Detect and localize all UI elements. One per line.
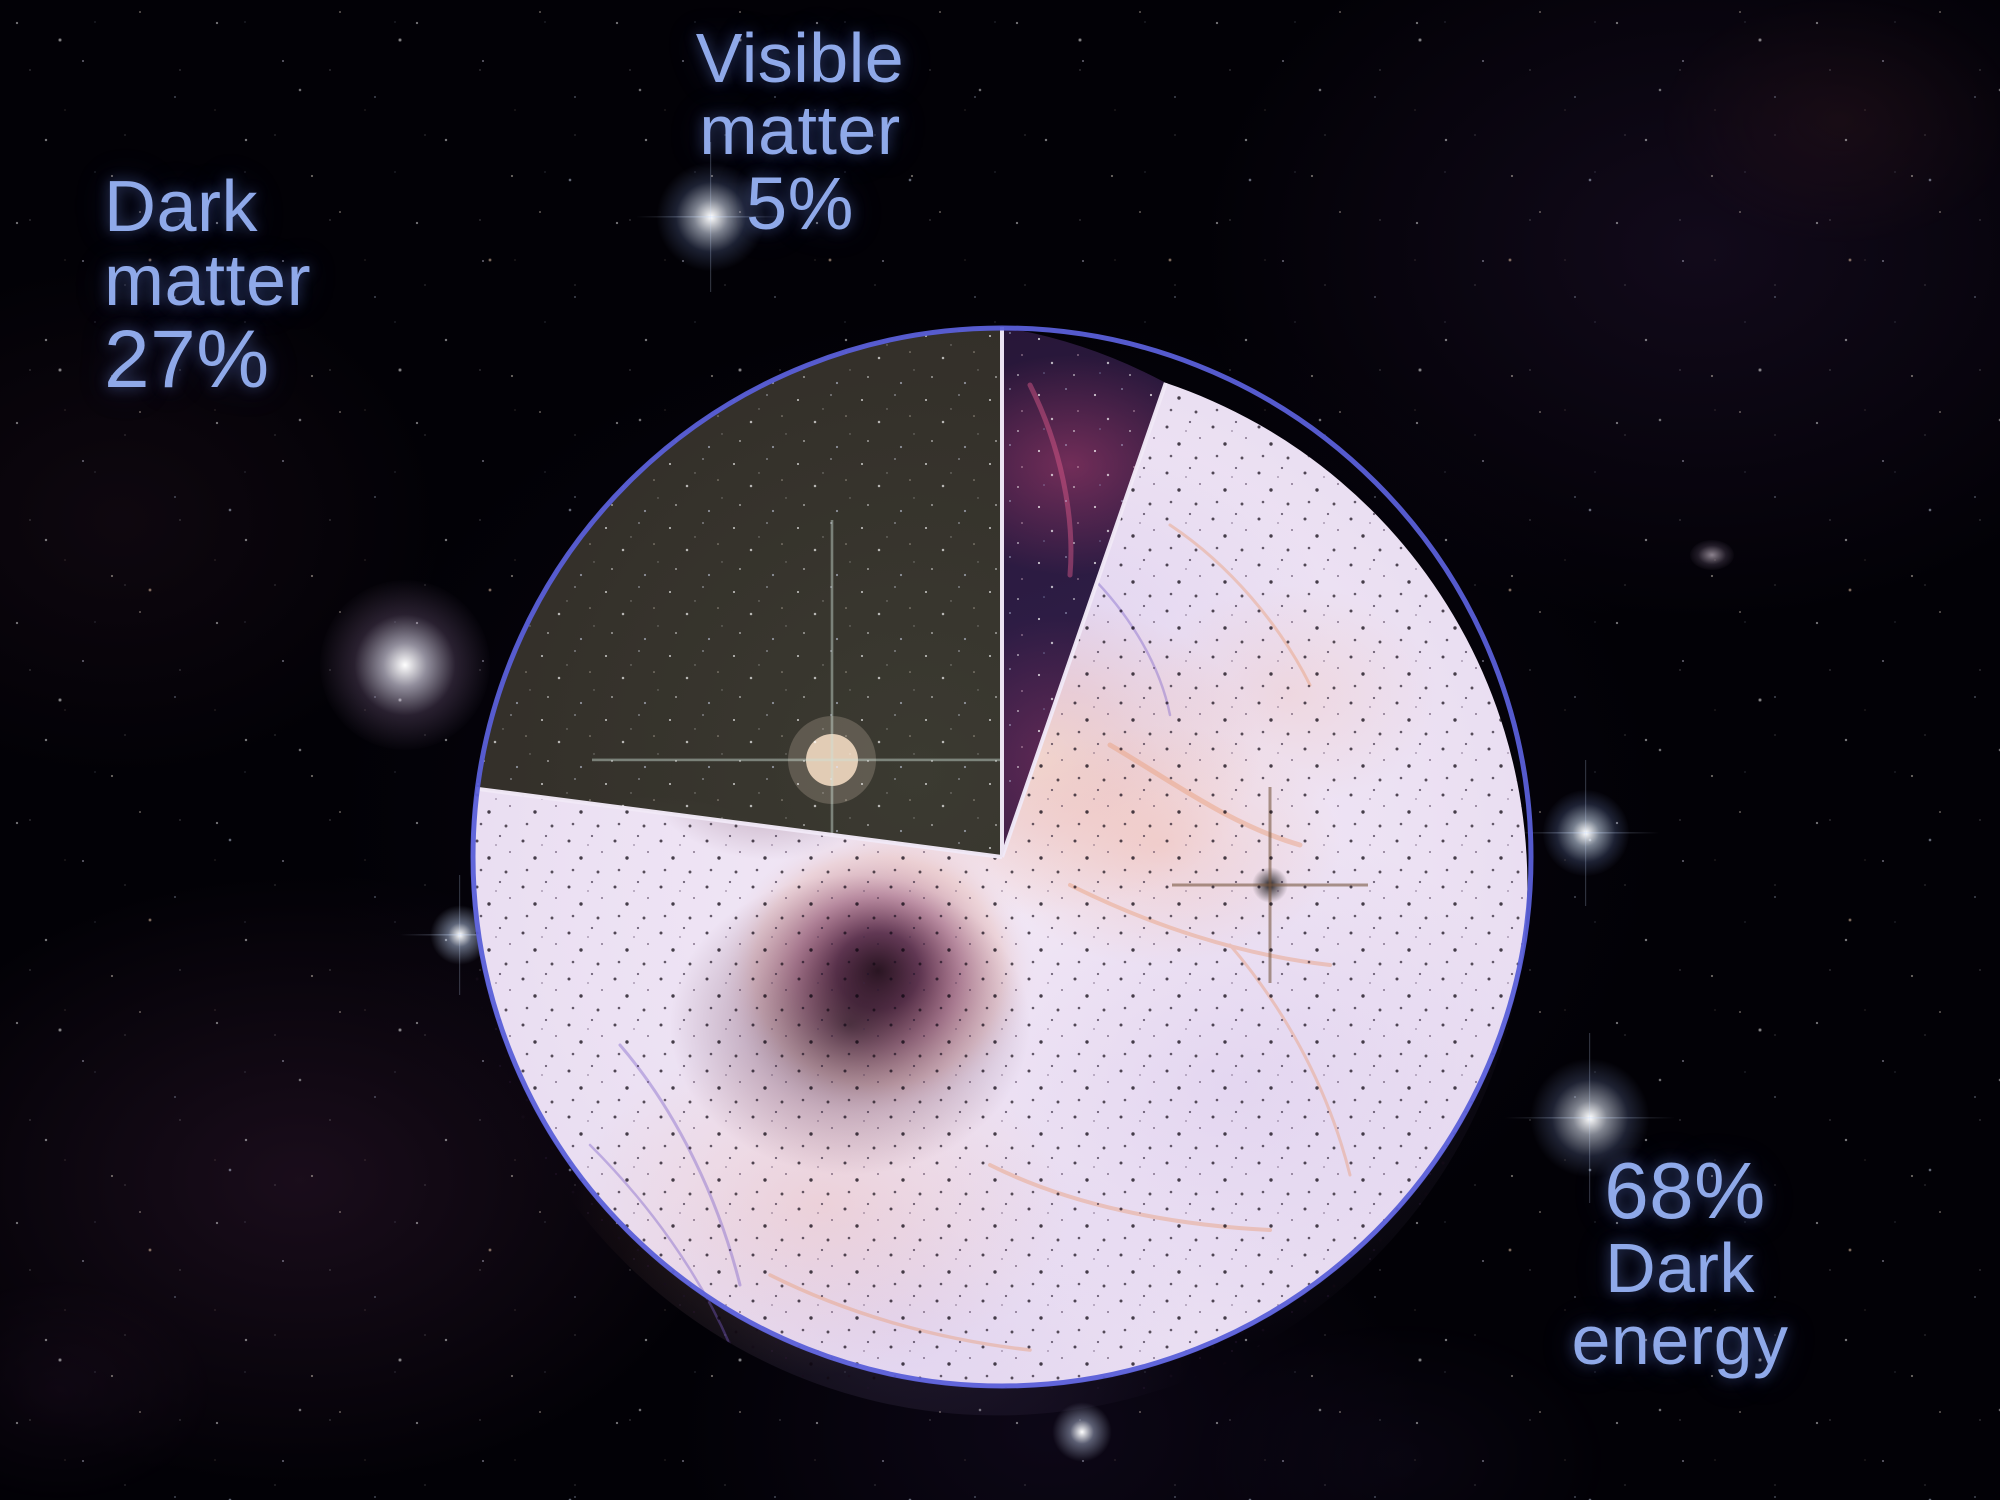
dark-energy-percent: 68%	[1470, 1150, 1890, 1232]
dark-matter-percent: 27%	[80, 318, 480, 402]
pie-chart	[470, 325, 1534, 1389]
pie-label-dark-energy: 68% Dark energy	[1470, 1150, 1890, 1377]
visible-matter-line1: Visible	[590, 22, 1010, 94]
dark-matter-line1: Dark	[80, 170, 480, 244]
space-pie-chart-figure: Visible matter 5% Dark matter 27% 68% Da…	[0, 0, 2000, 1500]
visible-matter-percent: 5%	[590, 166, 1010, 242]
pie-label-dark-matter: Dark matter 27%	[80, 170, 480, 403]
pie-label-visible-matter: Visible matter 5%	[590, 22, 1010, 242]
visible-matter-line2: matter	[590, 94, 1010, 166]
dark-energy-line2: energy	[1470, 1304, 1890, 1376]
dark-energy-line1: Dark	[1470, 1232, 1890, 1304]
dark-matter-line2: matter	[80, 244, 480, 318]
